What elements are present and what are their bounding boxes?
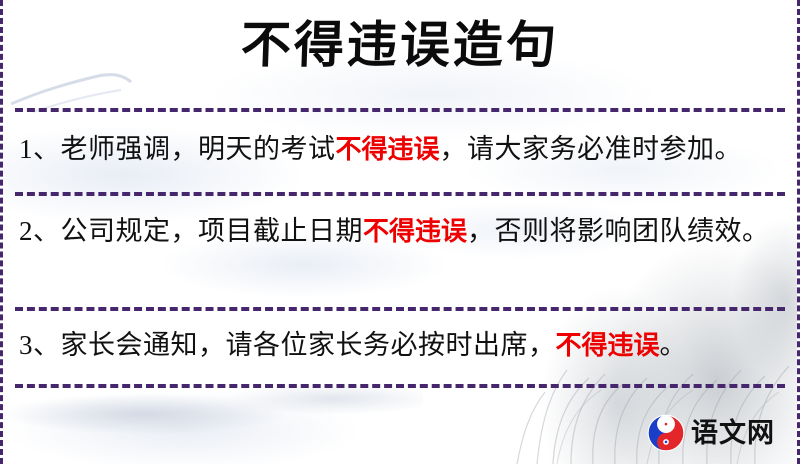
- divider-1: [15, 108, 785, 112]
- sentence-3-before: 家长会通知，请各位家长务必按时出席，: [61, 330, 556, 360]
- sentence-2-index: 2、: [19, 216, 61, 246]
- sentence-2-after: ，否则将影响团队绩效。: [467, 216, 770, 246]
- sentence-1-before: 老师强调，明天的考试: [61, 134, 336, 164]
- sentence-1-keyword: 不得违误: [336, 135, 440, 165]
- slide-canvas: 不得违误造句 1、老师强调，明天的考试不得违误，请大家务必准时参加。 2、公司规…: [0, 0, 800, 464]
- site-logo-text: 语文网: [691, 420, 775, 447]
- sentence-2-keyword: 不得违误: [363, 217, 467, 247]
- example-sentence-1: 1、老师强调，明天的考试不得违误，请大家务必准时参加。: [19, 126, 781, 173]
- title-container: 不得违误造句: [3, 18, 797, 73]
- sentence-3-after: 。: [660, 330, 688, 360]
- yinyang-fish-svg: [647, 414, 685, 452]
- yinyang-fish-icon: [647, 414, 685, 452]
- divider-2: [15, 192, 785, 196]
- sentence-1-index: 1、: [19, 134, 61, 164]
- sentence-3-keyword: 不得违误: [556, 331, 660, 361]
- site-logo[interactable]: 语文网: [647, 414, 775, 452]
- example-sentence-2: 2、公司规定，项目截止日期不得违误，否则将影响团队绩效。: [19, 208, 781, 255]
- divider-4: [15, 384, 785, 388]
- divider-3: [15, 307, 785, 311]
- sentence-1-after: ，请大家务必准时参加。: [440, 134, 743, 164]
- example-sentence-3: 3、家长会通知，请各位家长务必按时出席，不得违误。: [19, 322, 781, 369]
- sentence-3-index: 3、: [19, 330, 61, 360]
- sentence-2-before: 公司规定，项目截止日期: [61, 216, 364, 246]
- page-title: 不得违误造句: [240, 18, 560, 73]
